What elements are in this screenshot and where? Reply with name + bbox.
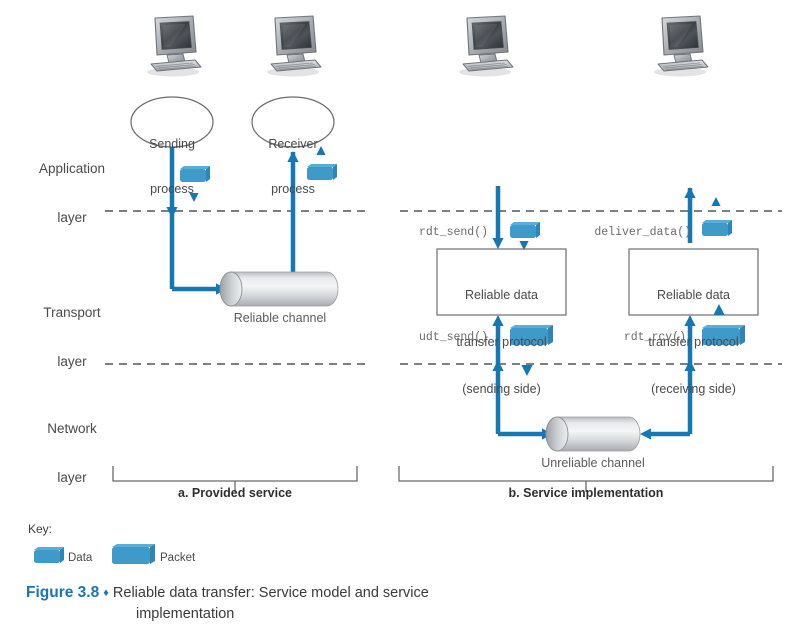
layer-label-application-line1: Application (24, 161, 120, 177)
key-label-data: Data (68, 551, 92, 565)
layer-label-network-line1: Network (24, 421, 120, 437)
process-label-receiver-line2: process (251, 182, 335, 197)
arrowhead-rdt-send-into-box (492, 238, 503, 249)
channel-label-reliable: Reliable channel (200, 311, 360, 326)
figure-3-8: Application layer Transport layer Networ… (0, 0, 788, 630)
api-label-rdt-rcv: rdt_rcv() (590, 331, 686, 345)
layer-label-transport-line2: layer (24, 354, 120, 370)
figure-caption-line2: implementation (136, 606, 234, 622)
figure-diamond-icon: ♦ (103, 587, 109, 599)
protocol-box-receiving-line1: Reliable data (629, 288, 758, 304)
protocol-box-sending-line1: Reliable data (437, 288, 566, 304)
layer-label-network-line2: layer (24, 470, 120, 486)
key-title: Key: (28, 522, 52, 537)
process-label-receiver: Receiver process (251, 107, 335, 227)
host-computer-receiver-b (654, 16, 708, 77)
bracket-label-panel-a: a. Provided service (135, 486, 335, 501)
key-label-packet: Packet (160, 551, 195, 565)
protocol-box-sending-line3: (sending side) (437, 382, 566, 398)
figure-caption: Figure 3.8 ♦ Reliable data transfer: Ser… (26, 583, 726, 604)
bracket-label-panel-b: b. Service implementation (466, 486, 706, 501)
host-computer-sender-b (459, 16, 513, 77)
arrowhead-into-unreliable-right (640, 428, 651, 439)
api-label-udt-send: udt_send() (388, 331, 488, 345)
process-label-sending: Sending process (130, 107, 214, 227)
reliable-channel-cylinder (220, 272, 338, 306)
layer-label-transport: Transport layer (24, 272, 120, 404)
layer-label-transport-line1: Transport (24, 305, 120, 321)
process-label-sending-line2: process (130, 182, 214, 197)
host-computer-sending (147, 16, 201, 77)
protocol-box-receiving-line3: (receiving side) (629, 382, 758, 398)
layer-label-application: Application layer (24, 128, 120, 260)
key-swatch-packet (112, 544, 155, 564)
api-label-rdt-send: rdt_send() (388, 226, 488, 240)
api-label-deliver-data: deliver_data() (566, 226, 691, 240)
layer-label-network: Network layer (24, 388, 120, 520)
channel-label-unreliable: Unreliable channel (513, 456, 673, 471)
data-arrow-deliver-head (711, 197, 720, 206)
figure-caption-line1: Reliable data transfer: Service model an… (113, 585, 429, 601)
data-block-rdt-send (510, 222, 540, 238)
layer-label-application-line2: layer (24, 210, 120, 226)
arrowhead-deliver-data-up (684, 187, 695, 198)
host-computer-receiving (267, 16, 321, 77)
figure-number: Figure 3.8 (26, 584, 99, 601)
data-block-deliver-data (702, 220, 732, 236)
process-label-receiver-line1: Receiver (251, 137, 335, 152)
key-swatch-data (34, 547, 64, 563)
process-label-sending-line1: Sending (130, 137, 214, 152)
